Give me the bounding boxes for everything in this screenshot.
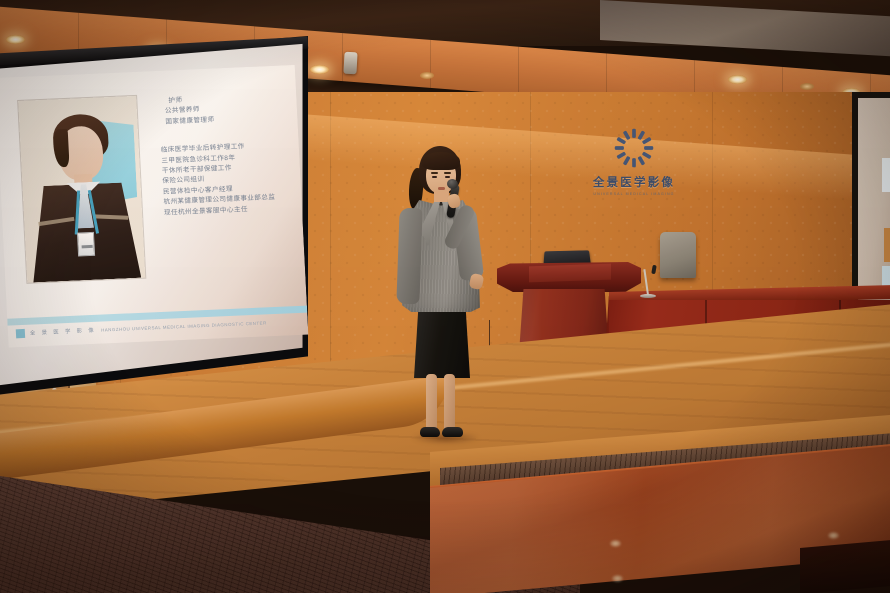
downlight-icon: [420, 72, 434, 79]
presenter: [392, 146, 492, 446]
presenter-hair: [422, 152, 460, 170]
downlight-icon: [728, 75, 747, 84]
presenter-skirt: [414, 306, 470, 378]
presenter-arm: [396, 208, 422, 305]
wall-logo-company-en: UNIVERSAL MEDICAL IMAGING: [578, 192, 690, 196]
downlight-icon: [800, 83, 814, 90]
wall-logo-company-cn: 全景医学影像: [578, 174, 690, 190]
downlight-icon: [310, 65, 329, 74]
side-screen-warm-patch: [884, 228, 890, 262]
presenter-leg: [444, 374, 455, 430]
side-screen-surface: [858, 98, 890, 306]
gooseneck-microphone-icon: [640, 268, 656, 298]
presenter-leg: [426, 374, 437, 430]
presenter-hand: [469, 273, 485, 290]
front-desk-shadow-gap: [800, 540, 890, 593]
sunburst-emblem-icon: [612, 126, 656, 170]
desk-light-reflection: [610, 540, 621, 547]
ceiling-speaker-icon: [343, 52, 357, 75]
slide-footer-square-icon: [16, 328, 25, 337]
side-projection-screen: [852, 92, 890, 314]
photograph-scene: 全景医学影像 UNIVERSAL MEDICAL IMAGING: [0, 0, 890, 593]
slide-content: 护师 公共营养师 国家健康管理师 临床医学毕业后转护理工作 三甲医院急诊科工作8…: [0, 65, 308, 348]
main-projection-screen: 护师 公共营养师 国家健康管理师 临床医学毕业后转护理工作 三甲医院急诊科工作8…: [0, 36, 308, 396]
slide-biography-list: 临床医学毕业后转护理工作 三甲医院急诊科工作8年 干休所老干部保健工作 保险公司…: [161, 140, 297, 219]
lectern-top: [497, 262, 641, 292]
wall-logo: 全景医学影像 UNIVERSAL MEDICAL IMAGING: [578, 126, 690, 202]
slide-footer-company-cn: 全 景 医 学 影 像: [30, 326, 97, 337]
slide-text-block: 护师 公共营养师 国家健康管理师 临床医学毕业后转护理工作 三甲医院急诊科工作8…: [158, 91, 296, 219]
chair: [660, 232, 696, 278]
desk-light-reflection: [828, 532, 839, 539]
side-screen-highlight: [882, 158, 890, 192]
desk-light-reflection: [612, 575, 623, 582]
presenter-shoe: [442, 427, 463, 437]
slide-portrait-photo: [18, 96, 145, 283]
slide-credentials-list: 护师 公共营养师 国家健康管理师: [158, 91, 291, 128]
presenter-shoe: [420, 427, 440, 437]
